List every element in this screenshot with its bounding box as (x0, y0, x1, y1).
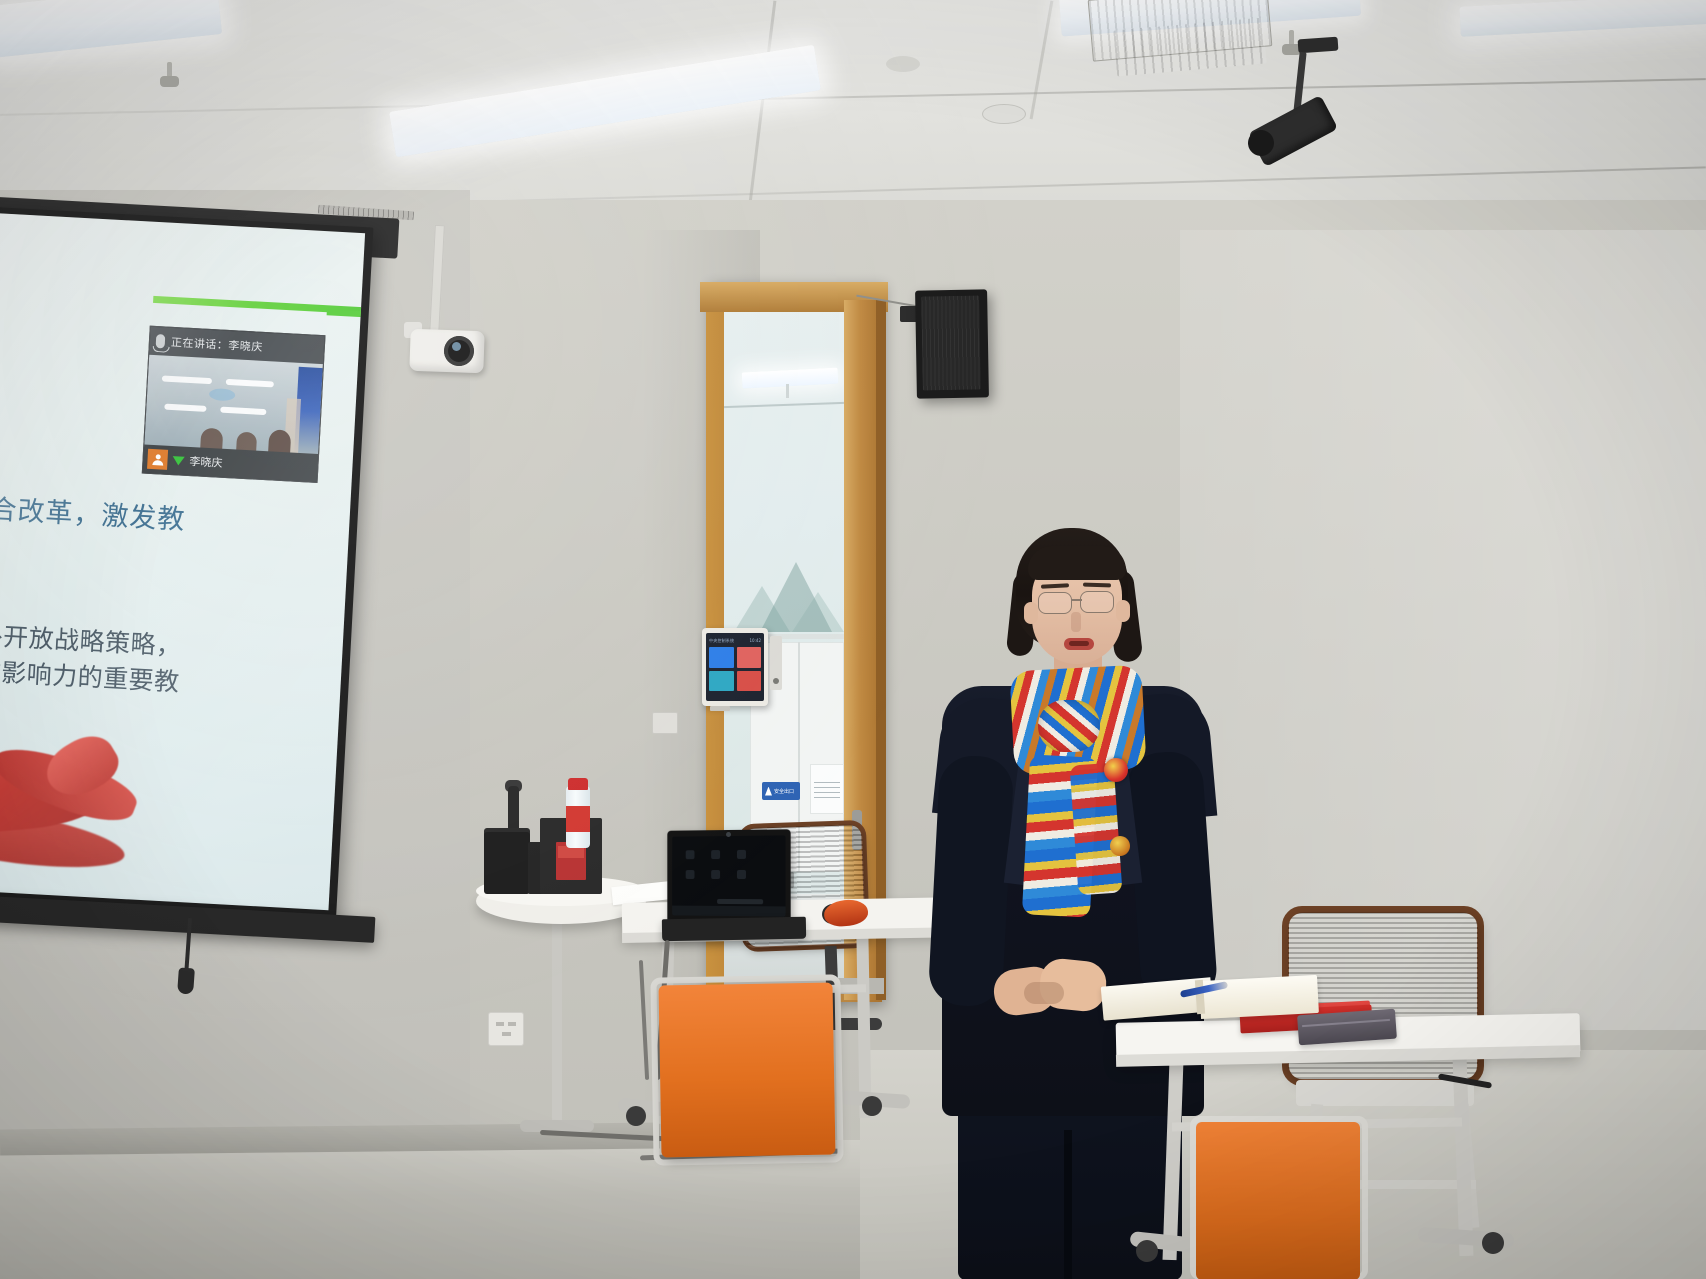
slide-paragraph-2: 育对外开放战略策略， 有全球影响力的重要教 (0, 615, 267, 706)
video-conference-feed (144, 355, 323, 456)
control-panel-time: 10:42 (749, 638, 761, 643)
mountain-mural (732, 532, 844, 632)
control-panel-logo (710, 706, 730, 711)
corridor-light-stem (786, 384, 789, 398)
corridor-poster-text (814, 782, 840, 800)
exit-sign-label: 安全出口 (774, 788, 794, 795)
socket-slot (496, 1022, 504, 1026)
presenter-mouth-inner (1069, 641, 1089, 646)
door-leaf-edge (876, 300, 886, 1000)
right-desk-caster (1482, 1232, 1504, 1254)
camera-lens-glint (452, 342, 461, 351)
socket-slot (508, 1022, 516, 1026)
ceiling-dome-icon (886, 56, 920, 72)
slide-paragraph-1: 育综合改革，激发教 活力 (0, 488, 264, 580)
orange-stacking-chair[interactable] (659, 982, 836, 1157)
meeting-room-photo: 安全出口 中央控制系统 10:42 (0, 0, 1706, 1279)
presenter-nose (1071, 612, 1081, 632)
control-tile-audio[interactable] (709, 671, 734, 692)
right-desk-caster (1136, 1240, 1158, 1262)
corridor-ceiling-line (724, 402, 844, 408)
glasses-bridge (1071, 599, 1082, 601)
control-tile-hvac[interactable] (737, 671, 762, 692)
exit-sign-icon (765, 787, 772, 796)
door-sensor-led-icon (773, 678, 779, 684)
laptop-webcam-icon (726, 832, 731, 837)
socket-slot (502, 1032, 511, 1036)
laptop-screen[interactable] (672, 835, 785, 916)
open-notebook-right-page[interactable] (1199, 975, 1319, 1019)
track-light-base (1298, 37, 1339, 54)
green-down-arrow-icon (172, 456, 184, 466)
party-emblem-pin-icon (1104, 758, 1128, 782)
projection-screen-surface: 正在讲话：李晓庆 李晓庆 (0, 212, 365, 910)
presenter-hand-shadow (1024, 982, 1064, 1004)
power-socket[interactable] (488, 1012, 524, 1046)
badge-pin-icon (1110, 836, 1130, 856)
desk-caster (626, 1106, 646, 1126)
control-panel-title: 中央控制系统 (709, 638, 734, 644)
corridor-light-icon (742, 367, 839, 388)
presenter-arm (928, 754, 1015, 1008)
screen-pull-handle[interactable] (177, 967, 195, 994)
person-avatar-icon (147, 449, 168, 470)
orange-stacking-chair-2[interactable] (1196, 1122, 1360, 1279)
equipment-box (484, 832, 530, 894)
wall-control-panel[interactable]: 中央控制系统 10:42 (702, 628, 768, 706)
presenter-leg-split (1064, 1130, 1072, 1279)
speaking-label: 正在讲话：李晓庆 (171, 334, 264, 355)
glasses-icon (1080, 591, 1114, 613)
presenter-fringe (1028, 546, 1126, 580)
control-tile-projector[interactable] (709, 647, 734, 668)
presenter-scarf-knot (1038, 700, 1100, 752)
control-panel-screen[interactable]: 中央控制系统 10:42 (706, 633, 764, 701)
slide-accent-bar-2 (327, 309, 365, 318)
water-bottle-label (566, 806, 590, 832)
wall-speaker-grille (921, 296, 981, 391)
presenter-scarf-tail (1070, 763, 1123, 896)
laptop-keyboard-base[interactable] (662, 917, 806, 942)
control-tile-lighting[interactable] (737, 647, 762, 668)
microphone-icon (156, 334, 166, 348)
remote-room-fan (209, 388, 236, 401)
visitor-chair-seat[interactable] (1296, 1080, 1474, 1106)
presenter-ear (1116, 600, 1130, 622)
desk-caster (862, 1096, 882, 1116)
participant-name: 李晓庆 (189, 453, 223, 471)
video-conference-tile[interactable]: 正在讲话：李晓庆 李晓庆 (142, 326, 326, 483)
round-table-leg (552, 916, 562, 1126)
exit-sign: 安全出口 (762, 782, 800, 800)
ceiling-dome-icon (982, 104, 1026, 124)
projection-screen: 正在讲话：李晓庆 李晓庆 (0, 206, 373, 927)
control-panel-topbar: 中央控制系统 10:42 (709, 637, 761, 644)
presenter-ear (1024, 602, 1038, 624)
control-panel-tiles (709, 647, 761, 691)
wall-plate[interactable] (652, 712, 678, 734)
glasses-icon (1038, 592, 1072, 614)
water-bottle-cap (568, 778, 588, 790)
